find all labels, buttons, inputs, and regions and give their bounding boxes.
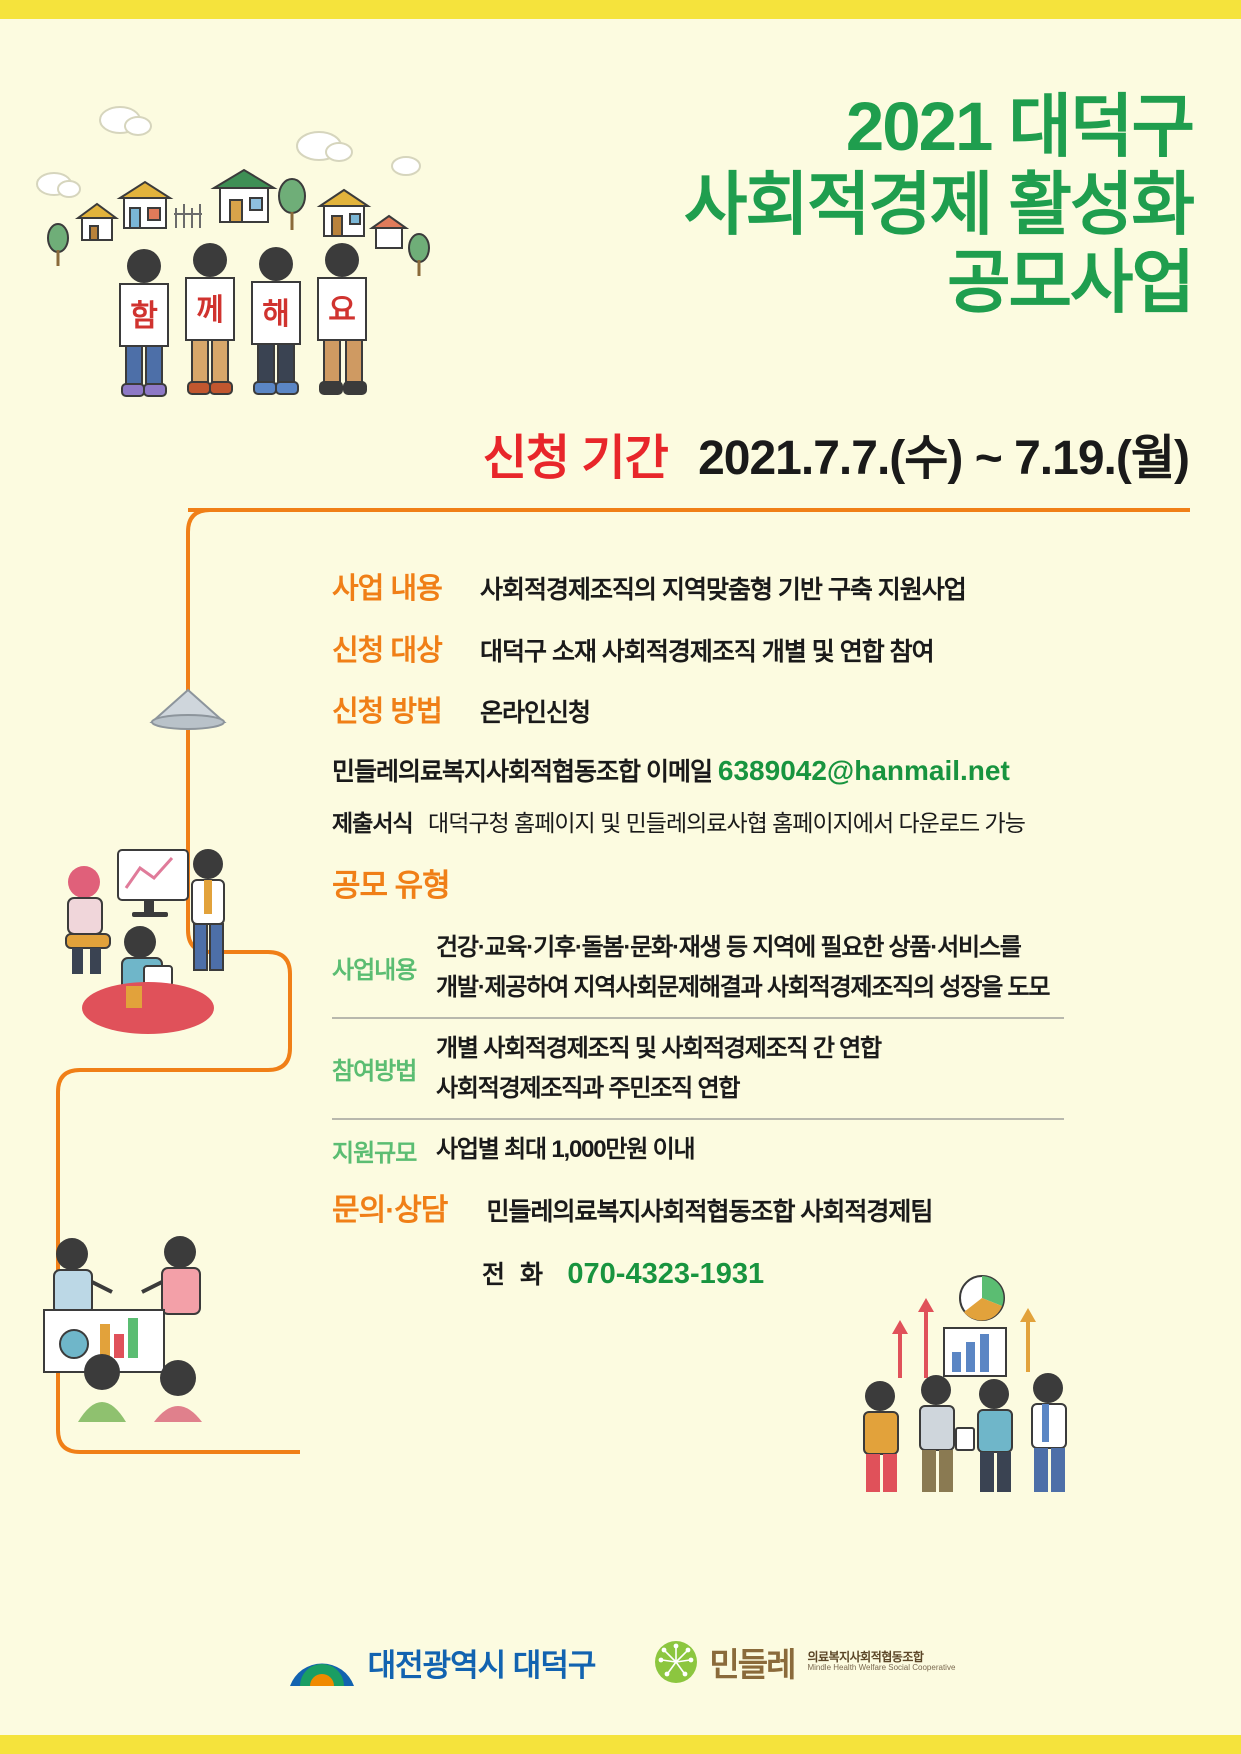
- info-row-label: 신청 방법: [332, 688, 480, 730]
- table-cell-line: 사회적경제조직과 주민조직 연합: [436, 1069, 1064, 1109]
- contact-line: 문의·상담 민들레의료복지사회적협동조합 사회적경제팀: [332, 1185, 932, 1229]
- contact-label: 문의·상담: [332, 1185, 482, 1229]
- poster-root: 함 께 해 요 2021 대덕구 사회적경제 활성화 공모사업 신청 기간 20…: [0, 0, 1241, 1754]
- mindle-subtitle-ko: 의료복지사회적협동조합: [807, 1651, 955, 1664]
- email-address[interactable]: 6389042@hanmail.net: [718, 755, 1010, 786]
- mindle-logo-subtitle: 의료복지사회적협동조합 Mindle Health Welfare Social…: [807, 1651, 955, 1673]
- email-line: 민들레의료복지사회적협동조합 이메일 6389042@hanmail.net: [332, 752, 1010, 788]
- table-row-label: 지원규모: [332, 1133, 436, 1168]
- info-row-target: 신청 대상 대덕구 소재 사회적경제조직 개별 및 연합 참여: [332, 627, 934, 669]
- info-row-method: 신청 방법 온라인신청: [332, 688, 590, 730]
- table-row-value: 개별 사회적경제조직 및 사회적경제조직 간 연합 사회적경제조직과 주민조직 …: [436, 1029, 1064, 1108]
- info-row-value: 사회적경제조직의 지역맞춤형 기반 구축 지원사업: [480, 570, 966, 606]
- table-cell-line: 건강·교육·기후·돌봄·문화·재생 등 지역에 필요한 상품·서비스를: [436, 928, 1064, 968]
- info-row-label: 신청 대상: [332, 627, 480, 669]
- phone-number[interactable]: 070-4323-1931: [567, 1258, 764, 1290]
- submission-form-value: 대덕구청 홈페이지 및 민들레의료사협 홈페이지에서 다운로드 가능: [428, 810, 1025, 836]
- table-cell-line: 사업별 최대 1,000만원 이내: [436, 1130, 1064, 1170]
- table-row: 참여방법 개별 사회적경제조직 및 사회적경제조직 간 연합 사회적경제조직과 …: [332, 1019, 1064, 1118]
- mindle-logo-text: 민들레: [709, 1638, 794, 1686]
- mindle-dandelion-icon: [653, 1639, 699, 1685]
- footer-logos: 대전광역시 대덕구: [0, 1636, 1241, 1688]
- daedeok-gu-logo-text: 대전광역시 대덕구: [368, 1640, 596, 1685]
- orange-connector-line: [0, 0, 1241, 1754]
- table-row-value: 사업별 최대 1,000만원 이내: [436, 1130, 1064, 1170]
- info-row-value: 온라인신청: [480, 693, 590, 729]
- types-table: 사업내용 건강·교육·기후·돌봄·문화·재생 등 지역에 필요한 상품·서비스를…: [332, 918, 1064, 1180]
- table-row-label: 사업내용: [332, 950, 436, 985]
- contact-phone-row: 전 화 070-4323-1931: [332, 1255, 932, 1291]
- contact-org: 민들레의료복지사회적협동조합 사회적경제팀: [486, 1198, 932, 1226]
- submission-form-label: 제출서식: [332, 810, 413, 836]
- table-row-label: 참여방법: [332, 1051, 436, 1086]
- table-cell-line: 개별 사회적경제조직 및 사회적경제조직 간 연합: [436, 1029, 1064, 1069]
- submission-form-line: 제출서식 대덕구청 홈페이지 및 민들레의료사협 홈페이지에서 다운로드 가능: [332, 804, 1025, 838]
- logo-daedeok-gu: 대전광역시 대덕구: [286, 1636, 596, 1688]
- section-heading-types: 공모 유형: [332, 860, 450, 905]
- logo-mindle: 민들레 의료복지사회적협동조합 Mindle Health Welfare So…: [653, 1638, 955, 1686]
- contact-block: 문의·상담 민들레의료복지사회적협동조합 사회적경제팀 전 화 070-4323…: [332, 1185, 932, 1291]
- mindle-subtitle-en: Mindle Health Welfare Social Cooperative: [807, 1664, 955, 1673]
- phone-label: 전 화: [482, 1261, 547, 1289]
- info-row-label: 사업 내용: [332, 565, 480, 607]
- table-row: 사업내용 건강·교육·기후·돌봄·문화·재생 등 지역에 필요한 상품·서비스를…: [332, 918, 1064, 1017]
- email-prefix: 민들레의료복지사회적협동조합 이메일: [332, 758, 712, 786]
- info-row-value: 대덕구 소재 사회적경제조직 개별 및 연합 참여: [480, 632, 934, 668]
- table-row: 지원규모 사업별 최대 1,000만원 이내: [332, 1120, 1064, 1180]
- table-row-value: 건강·교육·기후·돌봄·문화·재생 등 지역에 필요한 상품·서비스를 개발·제…: [436, 928, 1064, 1007]
- daedeok-gu-mark-icon: [286, 1636, 358, 1688]
- info-row-business-content: 사업 내용 사회적경제조직의 지역맞춤형 기반 구축 지원사업: [332, 565, 966, 607]
- table-cell-line: 개발·제공하여 지역사회문제해결과 사회적경제조직의 성장을 도모: [436, 968, 1064, 1008]
